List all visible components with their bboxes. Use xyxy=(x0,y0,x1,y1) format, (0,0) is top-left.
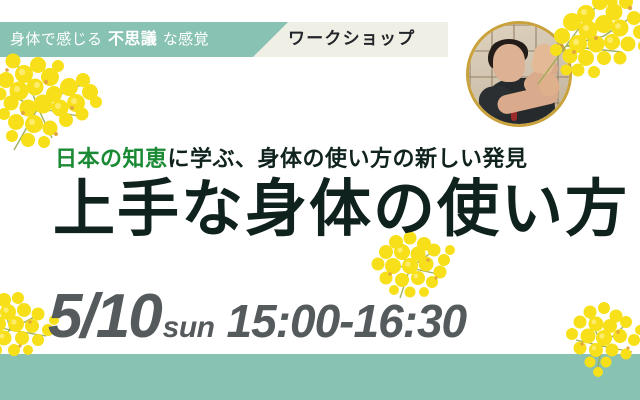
portrait-head xyxy=(493,44,525,82)
instructor-portrait xyxy=(466,21,572,127)
subtitle-rest: に学ぶ、身体の使い方の新しい発見 xyxy=(168,146,528,171)
top-whitespace xyxy=(0,0,640,22)
event-time: 15:00-16:30 xyxy=(227,298,467,344)
ribbon-tagline-emphasis: 不思議 xyxy=(107,31,158,48)
ribbon-category-label: ワークショップ xyxy=(288,22,415,57)
flower-cluster-top-left xyxy=(0,46,136,154)
page-title: 上手な身体の使い方 xyxy=(53,178,629,243)
ribbon-tagline: 身体で感じる 不思議 な感覚 xyxy=(10,22,209,57)
ribbon-tagline-after: な感覚 xyxy=(158,31,209,48)
footer-bar xyxy=(0,354,640,400)
subtitle-accent: 日本の知恵 xyxy=(55,146,168,171)
workshop-poster: 身体で感じる 不思議 な感覚 ワークショップ xyxy=(0,0,640,400)
event-day-of-week: sun xyxy=(163,313,215,343)
portrait-photo xyxy=(469,24,569,124)
ribbon-tagline-before: 身体で感じる xyxy=(10,31,107,48)
event-date: 5/10 xyxy=(48,286,161,348)
header-ribbon: 身体で感じる 不思議 な感覚 ワークショップ xyxy=(0,22,448,57)
event-datetime: 5/10 sun 15:00-16:30 xyxy=(48,286,466,348)
rapeseed-blossom-icon xyxy=(0,46,136,154)
subtitle: 日本の知恵に学ぶ、身体の使い方の新しい発見 xyxy=(55,141,528,173)
